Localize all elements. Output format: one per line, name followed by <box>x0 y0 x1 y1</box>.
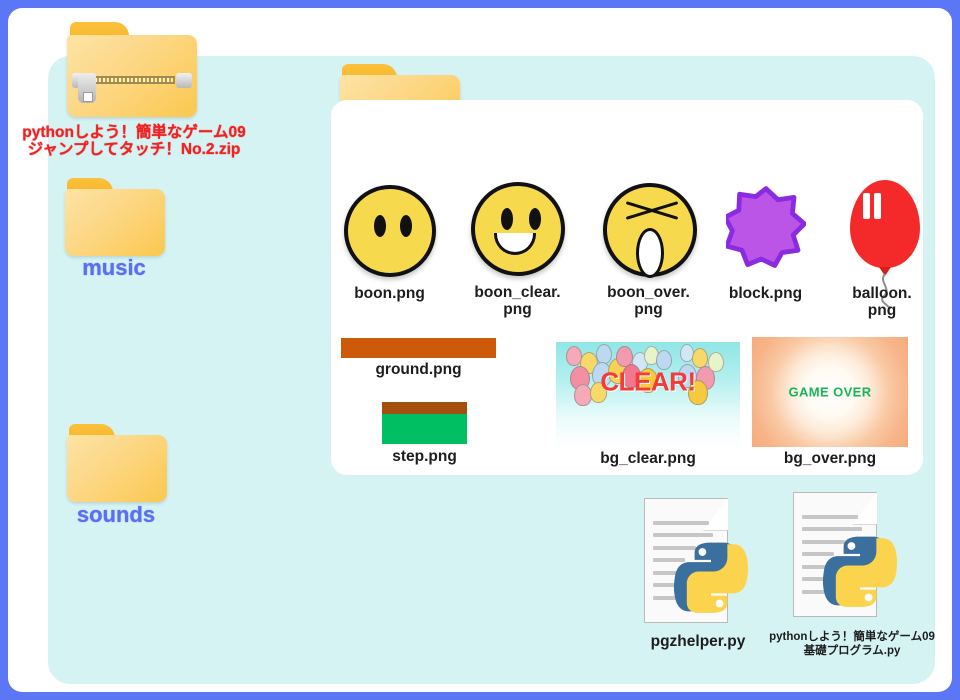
asset-bg-clear-label: bg_clear.png <box>556 450 740 467</box>
mouth-oval <box>636 228 664 278</box>
asset-boon-over-label: boon_over. png <box>592 284 705 319</box>
doc-line <box>653 521 709 525</box>
asset-ground-label: ground.png <box>341 361 496 378</box>
zipper-teeth <box>89 76 175 84</box>
mouth-smile <box>494 233 536 255</box>
clear-background-icon[interactable]: CLEAR! <box>556 342 740 446</box>
zipper-pull <box>78 73 96 103</box>
doc-line <box>802 515 858 519</box>
smiley-dead-icon[interactable] <box>603 183 697 277</box>
desktop-item-sounds[interactable] <box>64 424 169 502</box>
mini-balloon <box>708 352 724 372</box>
eye-left <box>501 208 513 230</box>
asset-bg-over-label: bg_over.png <box>752 450 908 467</box>
zipper-icon <box>72 73 192 87</box>
zipper-end-right <box>176 73 192 87</box>
folder-body <box>65 189 165 256</box>
asset-boon-clear[interactable] <box>468 182 568 276</box>
game-over-text: GAME OVER <box>788 385 871 400</box>
asset-block-label: block.png <box>709 285 822 302</box>
desktop-item-main-program-label: pythonしよう！簡単なゲーム09 基礎プログラム.py <box>752 630 952 659</box>
purple-star-icon[interactable] <box>726 184 806 270</box>
mini-balloon <box>692 348 708 368</box>
asset-balloon-label: balloon. png <box>832 285 932 320</box>
asset-boon[interactable] <box>340 185 440 277</box>
python-logo-icon <box>821 532 899 610</box>
asset-boon-clear-label: boon_clear. png <box>461 284 574 319</box>
desktop-item-zip-label: pythonしよう！簡単なゲーム09 ジャンプしてタッチ！No.2.zip <box>0 124 268 159</box>
clear-text: CLEAR! <box>600 366 695 397</box>
zip-folder-icon[interactable] <box>67 22 197 117</box>
doc-line <box>802 527 862 531</box>
asset-step-label: step.png <box>368 448 481 465</box>
asset-block[interactable] <box>726 184 806 275</box>
folder-body <box>67 435 167 502</box>
gameover-background-icon[interactable]: GAME OVER <box>752 337 908 447</box>
asset-boon-label: boon.png <box>333 285 446 302</box>
python-file-icon[interactable] <box>644 498 752 623</box>
eye-right <box>400 215 412 237</box>
python-logo-icon <box>672 538 750 616</box>
desktop-item-pgzhelper-label: pgzhelper.py <box>628 633 768 650</box>
smiley-neutral-icon[interactable] <box>344 185 436 277</box>
red-balloon-icon[interactable] <box>850 180 920 298</box>
desktop-item-music-label: music <box>40 256 188 281</box>
eye-right <box>529 208 541 230</box>
balloon-body <box>850 180 920 268</box>
desktop-item-pgzhelper[interactable] <box>644 498 754 628</box>
python-file-icon[interactable] <box>793 492 901 617</box>
folder-icon[interactable] <box>65 178 165 256</box>
asset-boon-over[interactable] <box>600 183 700 277</box>
step-top-strip <box>382 402 467 414</box>
desktop-item-main-program[interactable] <box>793 492 903 622</box>
desktop-item-music[interactable] <box>62 178 167 256</box>
orange-bar-icon[interactable] <box>341 338 496 358</box>
desktop-item-zip[interactable] <box>62 22 202 117</box>
smiley-happy-icon[interactable] <box>471 182 565 276</box>
asset-balloon[interactable] <box>845 180 925 300</box>
doc-line <box>653 533 713 537</box>
step-body <box>382 414 467 444</box>
balloon-highlight-2 <box>874 193 881 219</box>
balloon-highlight-1 <box>863 193 870 219</box>
mini-balloon <box>596 344 612 364</box>
eye-left <box>374 215 386 237</box>
folder-icon[interactable] <box>67 424 167 502</box>
desktop-item-sounds-label: sounds <box>42 503 190 528</box>
green-brown-block-icon[interactable] <box>382 402 467 444</box>
